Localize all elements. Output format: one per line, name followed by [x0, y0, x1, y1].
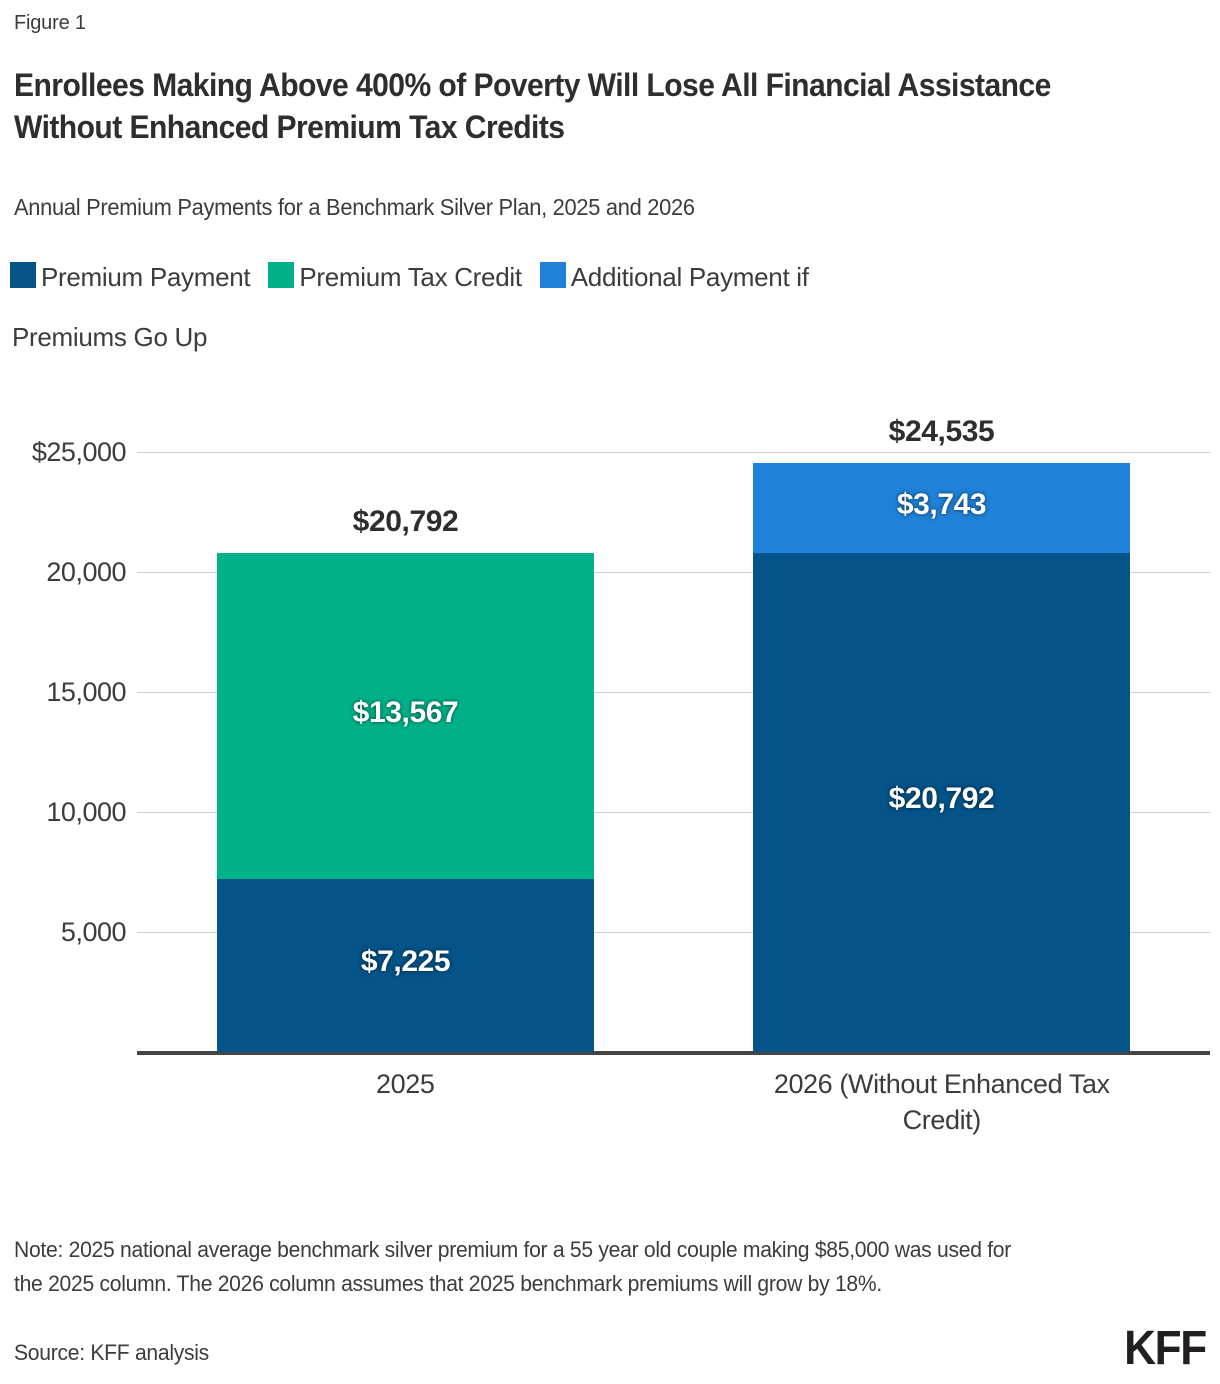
chart-source: Source: KFF analysis — [14, 1339, 209, 1367]
legend-item-label-continuation: Premiums Go Up — [12, 322, 207, 352]
bar-segment[interactable]: $3,743 — [753, 463, 1130, 553]
bar-segment-value-label: $13,567 — [217, 696, 594, 730]
kff-logo: KFF — [1124, 1325, 1206, 1373]
chart-subtitle: Annual Premium Payments for a Benchmark … — [14, 192, 1145, 222]
gridline — [137, 572, 1210, 573]
gridline — [137, 692, 1210, 693]
bar-segment[interactable]: $20,792 — [753, 553, 1130, 1052]
page-title: Enrollees Making Above 400% of Poverty W… — [14, 64, 1133, 148]
y-axis-tick-label: 15,000 — [0, 679, 126, 706]
y-axis-tick-label: 5,000 — [0, 919, 126, 946]
x-axis-category-label: 2026 (Without Enhanced Tax Credit) — [732, 1066, 1152, 1138]
bar-segment-value-label: $20,792 — [753, 782, 1130, 816]
legend-item-additional-payment[interactable]: Additional Payment if — [540, 262, 809, 292]
chart-note: Note: 2025 national average benchmark si… — [14, 1233, 1032, 1301]
figure-label: Figure 1 — [14, 12, 86, 35]
chart-x-axis-line — [137, 1051, 1210, 1055]
legend-swatch-icon — [10, 262, 36, 288]
bar-segment-value-label: $3,743 — [753, 488, 1130, 522]
bar-segment[interactable]: $13,567 — [217, 553, 594, 879]
legend-item-premium-payment[interactable]: Premium Payment — [10, 262, 250, 292]
legend-item-premium-tax-credit[interactable]: Premium Tax Credit — [268, 262, 521, 292]
x-axis-category-label: 2025 — [195, 1066, 615, 1102]
legend-swatch-icon — [540, 262, 566, 288]
y-axis-tick-label: 20,000 — [0, 559, 126, 586]
chart-legend: Premium Payment Premium Tax Credit Addit… — [10, 262, 1110, 292]
gridline — [137, 932, 1210, 933]
legend-item-label: Additional Payment if — [571, 262, 809, 292]
legend-swatch-icon — [268, 262, 294, 288]
y-axis-tick-label: 10,000 — [0, 799, 126, 826]
gridline — [137, 812, 1210, 813]
bar-total-label: $20,792 — [217, 505, 594, 539]
y-axis-tick-label: $25,000 — [0, 439, 126, 466]
legend-item-label: Premium Payment — [41, 262, 250, 292]
bar-segment[interactable]: $7,225 — [217, 879, 594, 1052]
legend-item-label: Premium Tax Credit — [299, 262, 521, 292]
bar-total-label: $24,535 — [753, 415, 1130, 449]
bar-segment-value-label: $7,225 — [217, 945, 594, 979]
gridline — [137, 452, 1210, 453]
